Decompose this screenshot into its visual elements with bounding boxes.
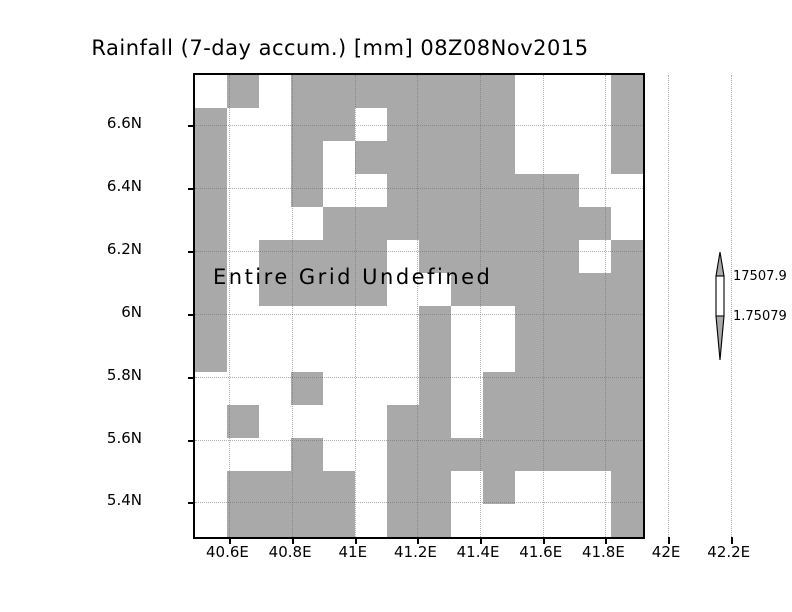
grid-cell (451, 438, 484, 472)
grid-cell (515, 75, 548, 109)
grid-cell (419, 174, 452, 208)
grid-cell (611, 207, 643, 241)
grid-cell (451, 405, 484, 439)
grid-cell (195, 141, 228, 175)
grid-cell (419, 372, 452, 406)
grid-cell (387, 405, 420, 439)
grid-cell (547, 306, 580, 340)
y-axis-label: 6.4N (107, 177, 142, 195)
grid-cell (451, 75, 484, 109)
grid-cell (291, 405, 324, 439)
y-axis-label: 5.4N (107, 491, 142, 509)
grid-cell (227, 207, 260, 241)
y-axis-tick (188, 251, 195, 253)
grid-cell (579, 372, 612, 406)
grid-cell (451, 141, 484, 175)
grid-cell (355, 306, 388, 340)
grid-cell (387, 207, 420, 241)
grid-cell (355, 504, 388, 537)
grid-cell (579, 504, 612, 537)
grid-cell (323, 372, 356, 406)
grid-cell (515, 405, 548, 439)
grid-cell (227, 405, 260, 439)
grid-cell (387, 174, 420, 208)
grid-cell (387, 504, 420, 537)
grid-cell (227, 174, 260, 208)
grid-cell (195, 504, 228, 537)
grid-cell (451, 471, 484, 505)
x-axis-label: 40.8E (269, 543, 312, 561)
grid-cell (515, 504, 548, 537)
grid-cell (291, 75, 324, 109)
grid-cell (547, 438, 580, 472)
grid-cell (259, 174, 292, 208)
grid-cell (611, 339, 643, 373)
x-axis-label: 41E (338, 543, 367, 561)
grid-cell (579, 207, 612, 241)
x-axis-label: 41.6E (519, 543, 562, 561)
grid-cell (323, 207, 356, 241)
grid-cell (355, 471, 388, 505)
grid-cell (611, 141, 643, 175)
grid-cell (259, 504, 292, 537)
colorbar-lower-triangle (716, 316, 724, 360)
grid-cell (259, 108, 292, 142)
grid-cell (323, 504, 356, 537)
grid-cell (323, 141, 356, 175)
x-axis-label: 42E (652, 543, 681, 561)
grid-cell (419, 75, 452, 109)
grid-cell (579, 174, 612, 208)
grid-cell (579, 240, 612, 274)
grid-cell (227, 471, 260, 505)
colorbar-upper-label: 17507.9 (733, 269, 787, 284)
grid-cell (419, 504, 452, 537)
grid-cell (515, 240, 548, 274)
grid-cell (547, 273, 580, 307)
grid-cell (323, 405, 356, 439)
grid-cell (483, 504, 516, 537)
grid-cell (227, 372, 260, 406)
grid-cell (419, 207, 452, 241)
x-axis-label: 41.2E (394, 543, 437, 561)
y-axis-label: 5.6N (107, 429, 142, 447)
grid-cell (611, 174, 643, 208)
grid-cell (515, 207, 548, 241)
grid-cell (259, 339, 292, 373)
grid-cell (483, 339, 516, 373)
grid-cell (355, 405, 388, 439)
grid-cell (227, 306, 260, 340)
grid-cell (355, 75, 388, 109)
grid-cell (419, 438, 452, 472)
grid-cell (259, 306, 292, 340)
grid-cell (611, 504, 643, 537)
grid-cell (291, 108, 324, 142)
grid-cell (195, 438, 228, 472)
grid-cell (611, 273, 643, 307)
grid-cell (387, 75, 420, 109)
grid-cell (451, 372, 484, 406)
grid-cell (483, 141, 516, 175)
grid-cell (291, 504, 324, 537)
grid-cell (291, 339, 324, 373)
grid-cell (515, 372, 548, 406)
grid-cell (483, 471, 516, 505)
grid-cell (387, 108, 420, 142)
grid-cell (419, 306, 452, 340)
grid-cell (483, 75, 516, 109)
gridline-vertical (668, 75, 669, 537)
grid-cell (387, 372, 420, 406)
grid-cell (611, 108, 643, 142)
grid-cell (515, 438, 548, 472)
grid-cell (611, 438, 643, 472)
grid-cell (579, 108, 612, 142)
heatmap-grid (195, 75, 643, 537)
grid-cell (387, 306, 420, 340)
grid-cell (547, 372, 580, 406)
grid-cell (291, 141, 324, 175)
grid-cell (195, 339, 228, 373)
grid-cell (547, 240, 580, 274)
grid-cell (579, 75, 612, 109)
grid-cell (227, 438, 260, 472)
grid-cell (387, 438, 420, 472)
grid-cell (419, 471, 452, 505)
colorbar-upper-triangle (716, 252, 724, 276)
grid-cell (515, 306, 548, 340)
grid-cell (419, 108, 452, 142)
x-axis-label: 41.4E (457, 543, 500, 561)
grid-cell (547, 207, 580, 241)
grid-cell (451, 339, 484, 373)
grid-cell (195, 471, 228, 505)
grid-cell (483, 207, 516, 241)
grid-cell (387, 339, 420, 373)
grid-cell (483, 306, 516, 340)
grid-cell (195, 405, 228, 439)
grid-cell (483, 438, 516, 472)
grid-cell (483, 372, 516, 406)
colorbar-lower-label: 1.75079 (733, 309, 787, 324)
grid-cell (579, 306, 612, 340)
grid-cell (259, 372, 292, 406)
grid-cell (323, 438, 356, 472)
grid-cell (387, 471, 420, 505)
grid-cell (579, 141, 612, 175)
grid-cell (611, 405, 643, 439)
grid-cell (451, 306, 484, 340)
y-axis-tick (188, 377, 195, 379)
grid-cell (515, 141, 548, 175)
grid-cell (611, 75, 643, 109)
grid-cell (259, 207, 292, 241)
grid-cell (227, 108, 260, 142)
grid-cell (579, 405, 612, 439)
grid-cell (291, 174, 324, 208)
grid-cell (227, 339, 260, 373)
grid-cell (451, 174, 484, 208)
colorbar-shape (705, 252, 735, 360)
grid-cell (355, 108, 388, 142)
grid-cell (355, 438, 388, 472)
grid-cell (547, 339, 580, 373)
grid-cell (579, 471, 612, 505)
grid-cell (259, 471, 292, 505)
grid-cell (355, 339, 388, 373)
grid-cell (195, 372, 228, 406)
grid-cell (291, 207, 324, 241)
y-axis-label: 5.8N (107, 366, 142, 384)
grid-cell (195, 75, 228, 109)
grid-cell (611, 306, 643, 340)
grid-cell (387, 141, 420, 175)
grid-cell (323, 306, 356, 340)
y-axis-tick (188, 314, 195, 316)
grid-cell (483, 108, 516, 142)
grid-cell (515, 174, 548, 208)
grid-cell (515, 471, 548, 505)
grid-cell (227, 141, 260, 175)
grid-cell (515, 108, 548, 142)
grid-cell (355, 372, 388, 406)
grid-cell (323, 174, 356, 208)
grid-cell (355, 174, 388, 208)
grid-cell (547, 108, 580, 142)
grid-cell (323, 108, 356, 142)
y-axis-tick (188, 502, 195, 504)
grid-cell (227, 504, 260, 537)
grid-cell (451, 504, 484, 537)
grid-cell (579, 438, 612, 472)
y-axis-label: 6.6N (107, 114, 142, 132)
grid-cell (291, 438, 324, 472)
grid-cell (291, 471, 324, 505)
grid-cell (547, 504, 580, 537)
undefined-annotation: Entire Grid Undefined (213, 265, 492, 289)
grid-cell (323, 75, 356, 109)
y-axis-tick (188, 440, 195, 442)
grid-cell (227, 75, 260, 109)
grid-cell (291, 306, 324, 340)
grid-cell (195, 108, 228, 142)
y-axis-label: 6N (121, 303, 142, 321)
grid-cell (323, 471, 356, 505)
x-axis-label: 42.2E (707, 543, 750, 561)
grid-cell (323, 339, 356, 373)
grid-cell (611, 372, 643, 406)
grid-cell (259, 438, 292, 472)
grid-cell (195, 174, 228, 208)
x-axis-label: 40.6E (206, 543, 249, 561)
grid-cell (355, 207, 388, 241)
grid-cell (515, 273, 548, 307)
grid-cell (611, 240, 643, 274)
grid-cell (419, 405, 452, 439)
colorbar-middle-band (716, 276, 724, 316)
grid-cell (547, 471, 580, 505)
grid-cell (579, 273, 612, 307)
grid-cell (291, 372, 324, 406)
x-axis-label: 41.8E (582, 543, 625, 561)
grid-cell (259, 75, 292, 109)
grid-cell (611, 471, 643, 505)
grid-cell (419, 141, 452, 175)
y-axis-tick (188, 188, 195, 190)
grid-cell (259, 141, 292, 175)
grid-cell (483, 174, 516, 208)
grid-cell (547, 174, 580, 208)
y-axis-label: 6.2N (107, 240, 142, 258)
grid-cell (547, 75, 580, 109)
grid-cell (419, 339, 452, 373)
grid-cell (515, 339, 548, 373)
grid-cell (195, 207, 228, 241)
grid-cell (483, 405, 516, 439)
grid-cell (355, 141, 388, 175)
grid-cell (451, 108, 484, 142)
grid-cell (547, 405, 580, 439)
grid-cell (451, 207, 484, 241)
colorbar: 17507.9 1.75079 (705, 252, 735, 360)
y-axis-tick (188, 125, 195, 127)
grid-cell (547, 141, 580, 175)
page-title: Rainfall (7-day accum.) [mm] 08Z08Nov201… (0, 36, 680, 60)
plot-area: Entire Grid Undefined (193, 73, 645, 539)
grid-cell (195, 306, 228, 340)
grid-cell (259, 405, 292, 439)
grid-cell (579, 339, 612, 373)
